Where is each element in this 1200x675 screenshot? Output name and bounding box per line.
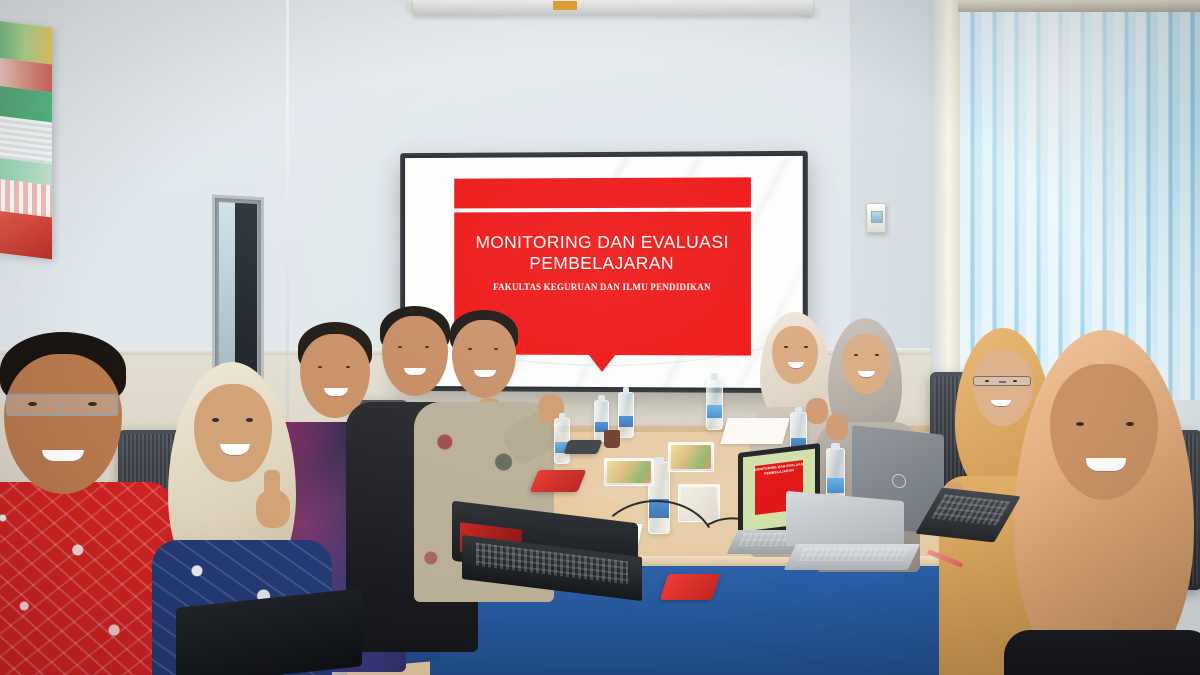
slide-pointer-tail [588, 354, 616, 372]
laptop-dark-open[interactable] [176, 598, 366, 675]
roll-screen-tab [553, 1, 577, 10]
slide-subtitle: FAKULTAS KEGURUAN DAN ILMU PENDIDIKAN [463, 282, 742, 292]
laptop-black-open[interactable] [452, 512, 652, 594]
slide-title-line-1: MONITORING DAN EVALUASI [475, 232, 728, 252]
blinds-rail [958, 0, 1200, 12]
slide-title: MONITORING DAN EVALUASI PEMBELAJARAN [466, 232, 739, 274]
thermostat-icon[interactable] [866, 203, 886, 233]
eyeglasses-icon [6, 394, 118, 416]
wall-corner [286, 0, 289, 440]
smartphone-red-case [530, 470, 587, 492]
window-with-blinds [930, 0, 1200, 400]
window-frame [930, 0, 964, 400]
wall-poster-glare [0, 21, 52, 260]
hand-peace-sign [826, 414, 848, 440]
paper-document [720, 418, 789, 444]
water-bottle [618, 392, 634, 438]
water-bottle [706, 378, 723, 430]
mouth [1086, 458, 1126, 472]
photo-scene: MONITORING DAN EVALUASI PEMBELAJARAN FAK… [0, 0, 1200, 675]
eyeglasses-icon [973, 376, 1031, 386]
hand [256, 490, 290, 528]
coffee-cup [604, 430, 620, 448]
mouth [42, 450, 84, 462]
smartphone-dark [563, 440, 602, 454]
person-torso [0, 482, 174, 675]
projector-roll-screen [413, 0, 813, 16]
person-torso [1004, 630, 1200, 675]
snack-box [668, 442, 714, 472]
slide-title-line-2: PEMBELAJARAN [529, 253, 674, 273]
hand-peace-sign [806, 398, 828, 424]
laptop-lid [176, 588, 362, 675]
snack-box [604, 458, 654, 486]
slide-accent-bar [454, 177, 751, 208]
laptop-silver-open[interactable] [786, 496, 916, 576]
smartphone-red-case [660, 574, 720, 600]
laptop-keyboard[interactable] [784, 544, 921, 570]
